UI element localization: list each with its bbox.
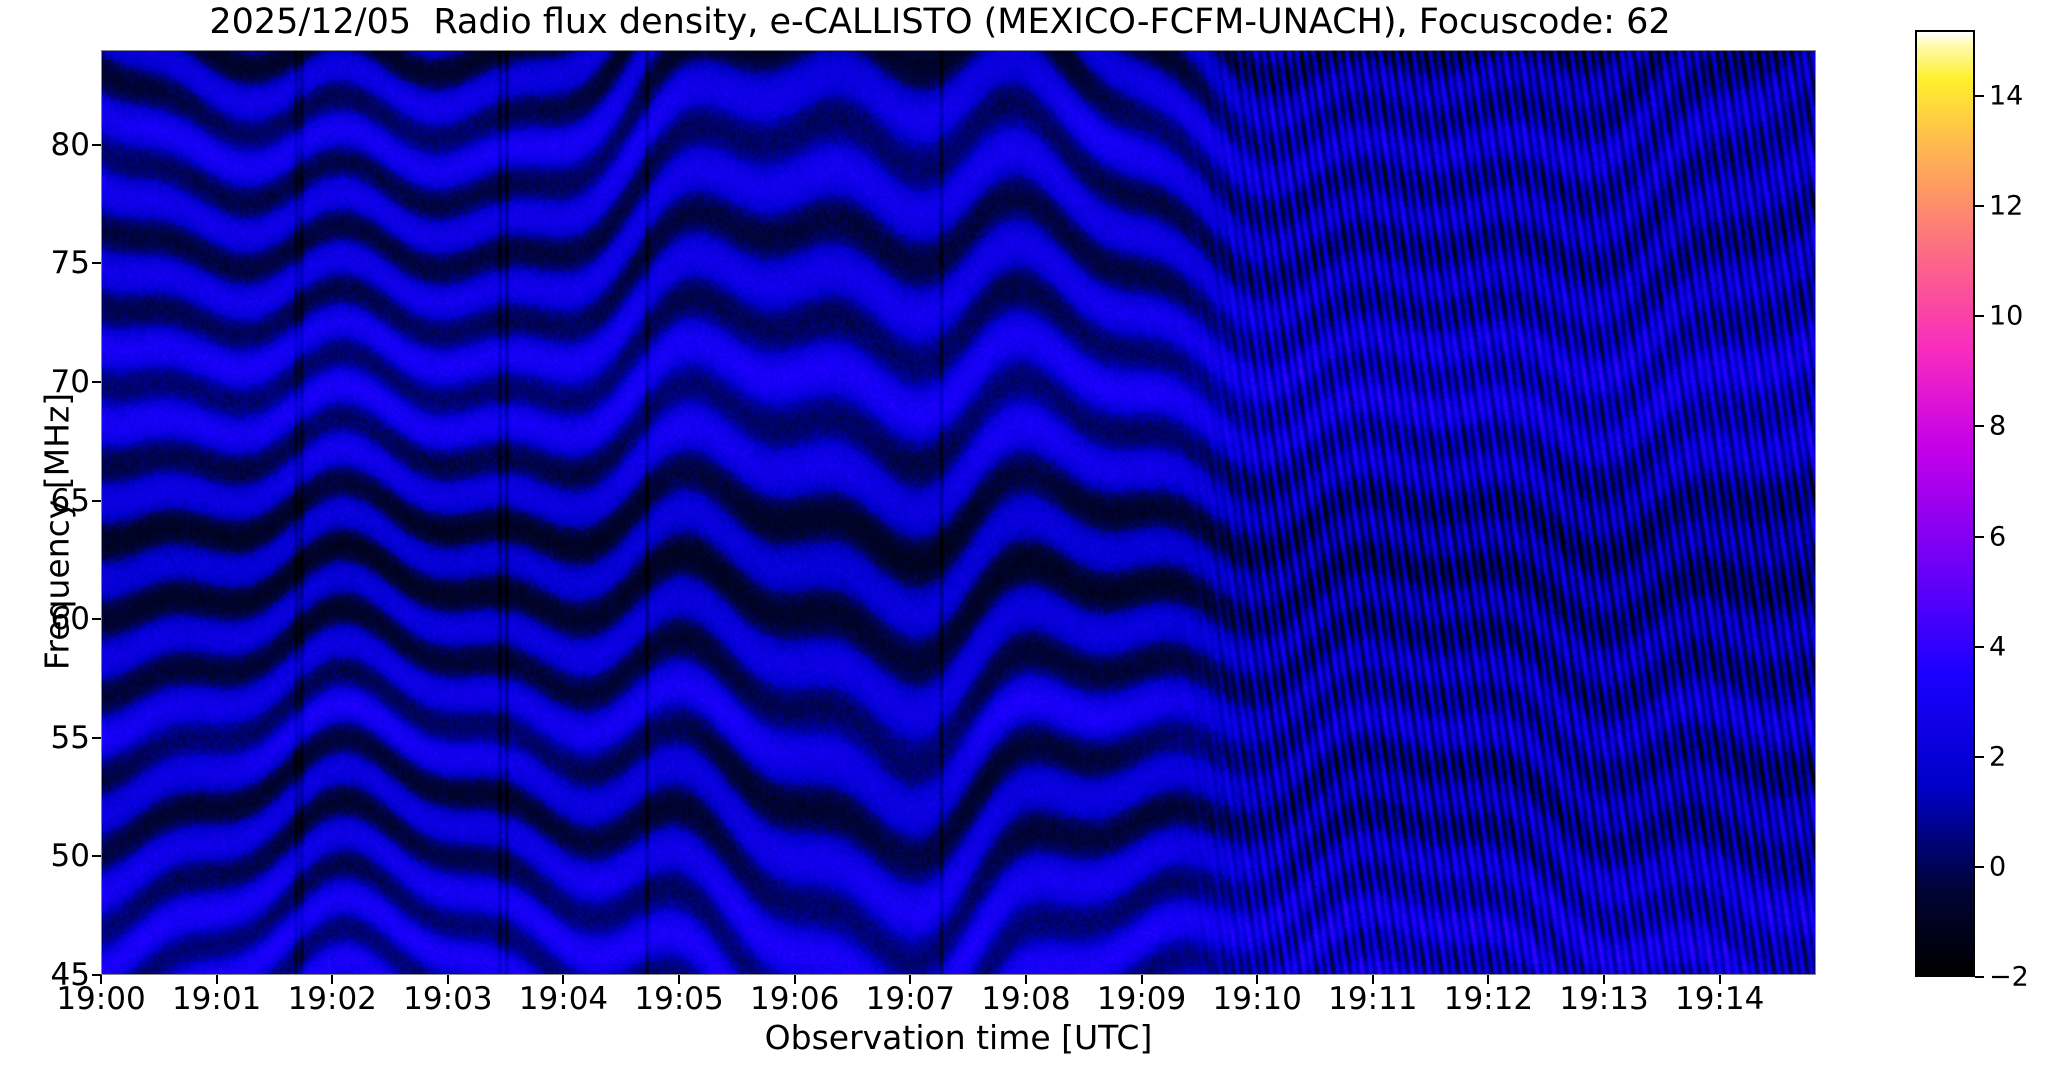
x-tick-mark bbox=[100, 975, 102, 984]
colorbar-tick-mark bbox=[1975, 646, 1984, 648]
colorbar-tick-mark bbox=[1975, 205, 1984, 207]
x-tick-label: 19:12 bbox=[1444, 981, 1533, 1017]
y-tick-mark bbox=[92, 855, 101, 857]
x-tick-label: 19:05 bbox=[634, 981, 723, 1017]
x-axis-title: Observation time [UTC] bbox=[101, 1018, 1816, 1057]
colorbar-tick-label: 4 bbox=[1989, 631, 2006, 662]
x-tick-mark bbox=[1487, 975, 1489, 984]
x-tick-label: 19:08 bbox=[981, 981, 1070, 1017]
x-tick-mark bbox=[1141, 975, 1143, 984]
x-tick-mark bbox=[794, 975, 796, 984]
x-tick-label: 19:00 bbox=[56, 981, 145, 1017]
colorbar-gradient bbox=[1915, 30, 1975, 977]
y-tick-mark bbox=[92, 144, 101, 146]
x-tick-label: 19:02 bbox=[288, 981, 377, 1017]
y-tick-mark bbox=[92, 262, 101, 264]
y-tick-mark bbox=[92, 500, 101, 502]
x-tick-mark bbox=[1372, 975, 1374, 984]
colorbar-tick-label: −2 bbox=[1989, 962, 2029, 993]
y-axis-title: Frequency [MHz] bbox=[38, 92, 77, 972]
figure-root: 2025/12/05 Radio flux density, e-CALLIST… bbox=[0, 0, 2047, 1067]
colorbar-tick-label: 6 bbox=[1989, 521, 2006, 552]
x-tick-label: 19:11 bbox=[1328, 981, 1417, 1017]
x-tick-mark bbox=[1603, 975, 1605, 984]
x-tick-label: 19:14 bbox=[1675, 981, 1764, 1017]
colorbar bbox=[1915, 30, 1975, 977]
colorbar-tick-mark bbox=[1975, 866, 1984, 868]
x-tick-mark bbox=[678, 975, 680, 984]
x-tick-mark bbox=[331, 975, 333, 984]
x-tick-label: 19:01 bbox=[172, 981, 261, 1017]
x-tick-mark bbox=[562, 975, 564, 984]
colorbar-tick-mark bbox=[1975, 425, 1984, 427]
x-tick-mark bbox=[447, 975, 449, 984]
colorbar-tick-label: 12 bbox=[1989, 191, 2023, 222]
x-tick-label: 19:07 bbox=[866, 981, 955, 1017]
y-tick-mark bbox=[92, 737, 101, 739]
x-tick-label: 19:09 bbox=[1097, 981, 1186, 1017]
y-tick-mark bbox=[92, 381, 101, 383]
x-tick-mark bbox=[909, 975, 911, 984]
colorbar-tick-mark bbox=[1975, 536, 1984, 538]
colorbar-tick-label: 0 bbox=[1989, 851, 2006, 882]
x-tick-mark bbox=[216, 975, 218, 984]
colorbar-tick-label: 14 bbox=[1989, 81, 2023, 112]
colorbar-tick-label: 10 bbox=[1989, 301, 2023, 332]
x-tick-mark bbox=[1025, 975, 1027, 984]
colorbar-tick-mark bbox=[1975, 95, 1984, 97]
x-tick-label: 19:13 bbox=[1559, 981, 1648, 1017]
x-tick-mark bbox=[1719, 975, 1721, 984]
colorbar-tick-mark bbox=[1975, 756, 1984, 758]
x-tick-label: 19:04 bbox=[519, 981, 608, 1017]
colorbar-tick-label: 8 bbox=[1989, 411, 2006, 442]
x-tick-mark bbox=[1256, 975, 1258, 984]
x-tick-label: 19:10 bbox=[1213, 981, 1302, 1017]
x-tick-label: 19:06 bbox=[750, 981, 839, 1017]
colorbar-tick-mark bbox=[1975, 315, 1984, 317]
y-tick-mark bbox=[92, 618, 101, 620]
y-axis-tick-marks bbox=[0, 0, 2047, 1067]
colorbar-tick-label: 2 bbox=[1989, 741, 2006, 772]
x-tick-label: 19:03 bbox=[403, 981, 492, 1017]
colorbar-tick-mark bbox=[1975, 976, 1984, 978]
